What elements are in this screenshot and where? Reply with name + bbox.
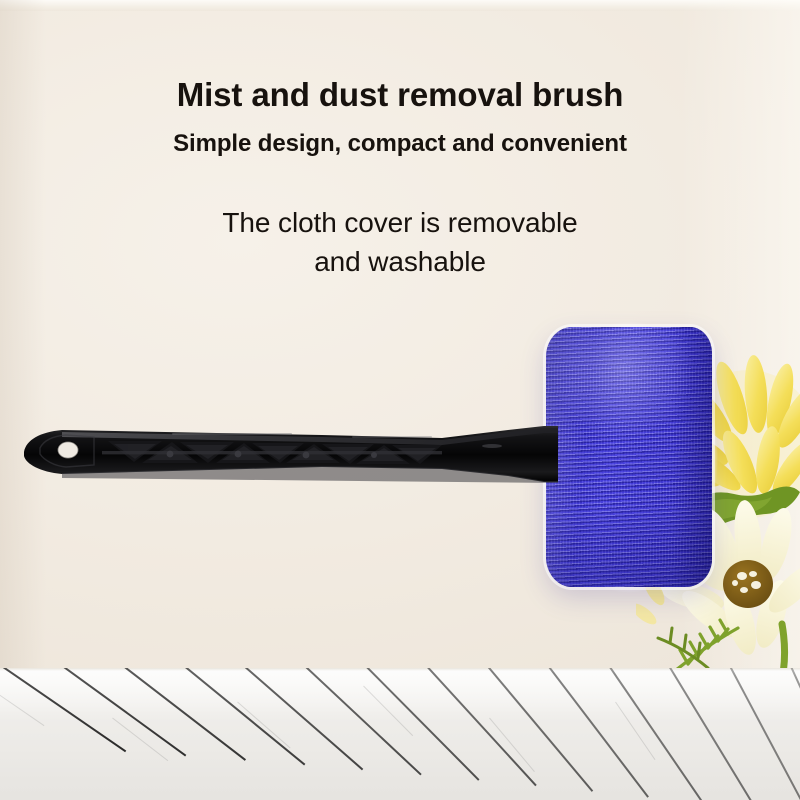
product-image-scene: Mist and dust removal brush Simple desig… [0, 0, 800, 800]
feature-claim: The cloth cover is removable and washabl… [0, 203, 800, 283]
feature-claim-line-1: The cloth cover is removable [222, 207, 577, 238]
feature-claim-line-2: and washable [0, 242, 800, 282]
floor-horizon-edge [0, 668, 800, 671]
brush-head-shading [546, 327, 712, 587]
blue-microfiber-brush-head [546, 327, 712, 587]
floor-sheen [0, 668, 800, 800]
page-title: Mist and dust removal brush [0, 76, 800, 115]
black-lattice-handle [22, 424, 562, 484]
white-wood-plank-floor [0, 668, 800, 800]
subtitle: Simple design, compact and convenient [0, 130, 800, 159]
marketing-copy-block: Mist and dust removal brush Simple desig… [0, 76, 800, 282]
